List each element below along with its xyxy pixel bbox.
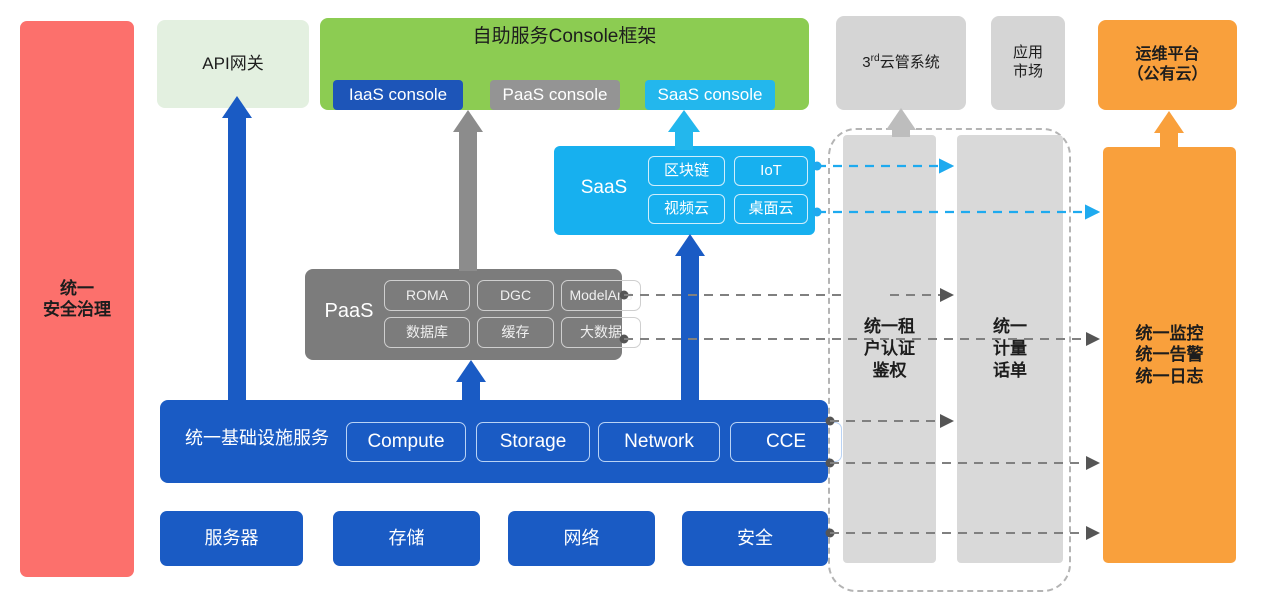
iaas-console-chip[interactable]: IaaS console [333,80,463,110]
app-market-box: 应用 市场 [991,16,1065,110]
third-party-prefix: 3 [862,54,870,71]
paas-chip-cache[interactable]: 缓存 [477,317,554,348]
hardware-box-storage: 存储 [333,511,480,566]
billing-line1: 统一 [993,317,1027,336]
saas-chip-iot[interactable]: IoT [734,156,808,186]
ops-col-line3: 统一日志 [1136,367,1204,386]
console-framework-box: 自助服务Console框架 IaaS console PaaS console … [320,18,809,110]
auth-line1: 统一租 [864,317,915,336]
api-gateway-box: API网关 [157,20,309,108]
infra-chip-network[interactable]: Network [598,422,720,462]
infra-chip-cce[interactable]: CCE [730,422,842,462]
saas-console-chip[interactable]: SaaS console [645,80,775,110]
paas-chip-database[interactable]: 数据库 [384,317,470,348]
paas-chip-modelarts[interactable]: ModelArts [561,280,641,311]
ops-col-line2: 统一告警 [1136,345,1204,364]
infra-chip-storage[interactable]: Storage [476,422,590,462]
arrow-infra-to-paas [456,360,486,403]
third-party-label: 云管系统 [880,54,940,71]
infrastructure-layer-label: 统一基础设施服务 [172,427,342,450]
hardware-box-security: 安全 [682,511,828,566]
security-governance-pillar: 统一 安全治理 [20,21,134,577]
arrow-ops-column-to-ops-platform [1154,111,1184,148]
console-framework-title: 自助服务Console框架 [320,25,809,49]
ops-platform-line1: 运维平台 [1135,46,1199,63]
hardware-box-network: 网络 [508,511,655,566]
ops-col-line1: 统一监控 [1136,324,1204,343]
infrastructure-layer-box: 统一基础设施服务 Compute Storage Network CCE [160,400,828,483]
ops-platform-line2: （公有云） [1127,66,1207,83]
app-market-line2: 市场 [1013,63,1043,80]
third-party-cloud-management-box: 3rd云管系统 [836,16,966,110]
arrow-saas-to-saas-console [668,110,700,150]
auth-line3: 鉴权 [873,361,907,380]
saas-chip-desktop-cloud[interactable]: 桌面云 [734,194,808,224]
billing-line3: 话单 [993,361,1027,380]
saas-layer-box: SaaS 区块链 IoT 视频云 桌面云 [554,146,815,235]
security-pillar-line2: 安全治理 [43,300,111,319]
paas-chip-dgc[interactable]: DGC [477,280,554,311]
infra-chip-compute[interactable]: Compute [346,422,466,462]
paas-chip-roma[interactable]: ROMA [384,280,470,311]
paas-chip-bigdata[interactable]: 大数据 [561,317,641,348]
saas-chip-blockchain[interactable]: 区块链 [648,156,725,186]
arrow-paas-to-console [453,110,483,271]
shared-service-billing-column: 统一 计量 话单 [957,135,1063,563]
architecture-diagram: 统一租 户认证 鉴权 统一 计量 话单 统一 安全治理 API网关 自助服务Co… [0,0,1265,605]
arrow-infra-to-saas [675,234,705,403]
paas-layer-box: PaaS ROMA DGC ModelArts 数据库 缓存 大数据 [305,269,622,360]
ops-platform-box: 运维平台 （公有云） [1098,20,1237,110]
saas-chip-video-cloud[interactable]: 视频云 [648,194,725,224]
arrow-infra-to-api-gateway [222,96,252,402]
api-gateway-label: API网关 [202,53,263,74]
shared-service-auth-column: 统一租 户认证 鉴权 [843,135,936,563]
auth-line2: 户认证 [864,339,915,358]
third-party-sup: rd [871,53,880,64]
security-pillar-line1: 统一 [60,279,94,298]
app-market-line1: 应用 [1013,44,1043,61]
ops-monitoring-column: 统一监控 统一告警 统一日志 [1103,147,1236,563]
paas-layer-label: PaaS [313,299,385,324]
saas-layer-label: SaaS [564,176,644,200]
paas-console-chip[interactable]: PaaS console [490,80,620,110]
hardware-box-server: 服务器 [160,511,303,566]
billing-line2: 计量 [993,339,1027,358]
